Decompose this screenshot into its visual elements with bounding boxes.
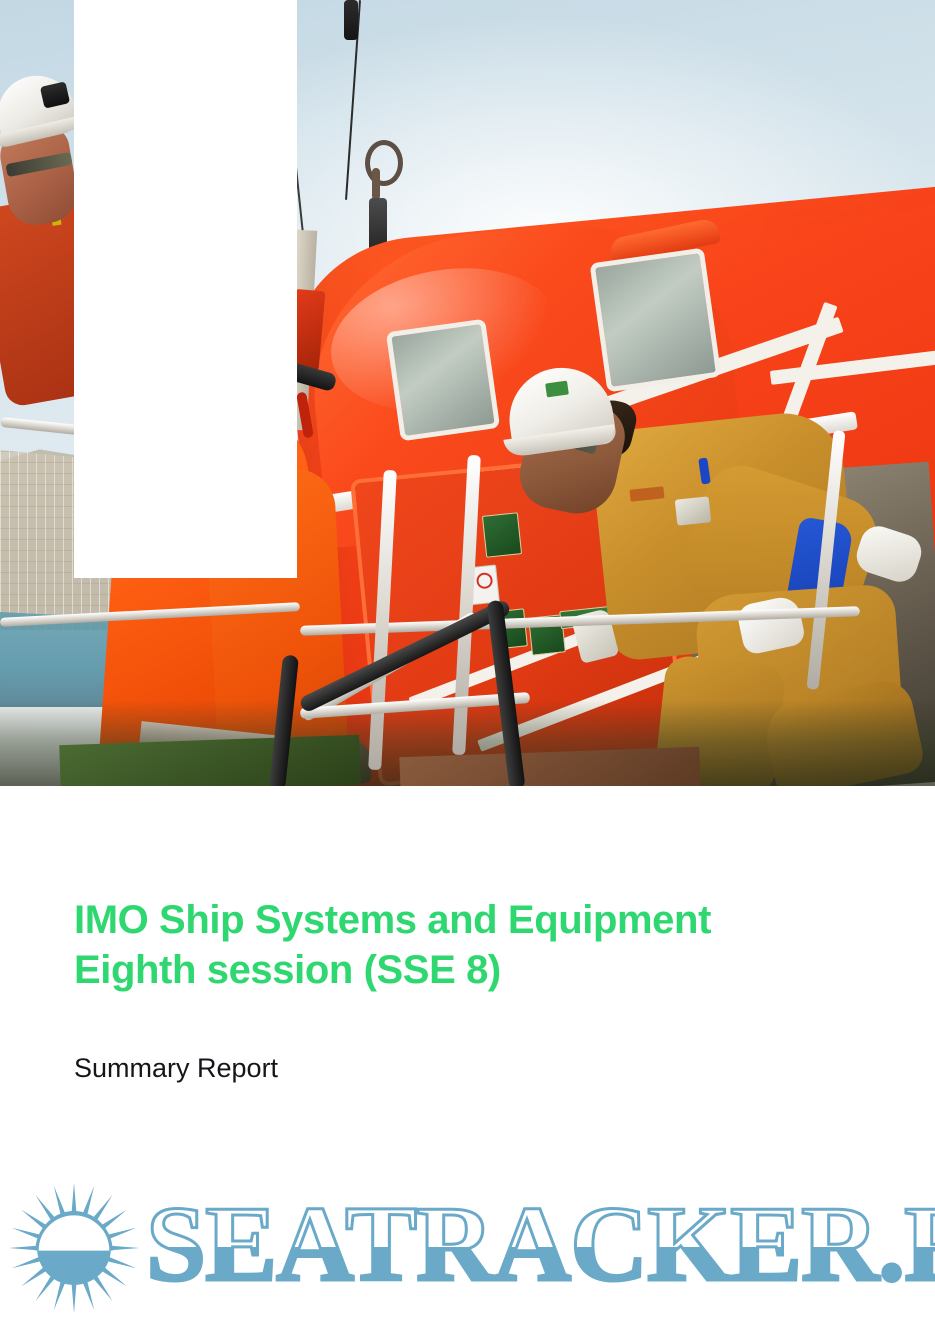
page-title: IMO Ship Systems and Equipment Eighth se… [74,895,834,995]
lifeboat-window-left [386,319,500,442]
watermark-banner: SEATRACKER.RU [0,1178,935,1322]
sun-starburst-icon [8,1182,140,1319]
lr-logo-panel [74,0,297,578]
worker-tan-patch [675,496,712,525]
davit-ring-icon [365,140,403,186]
safety-placard-icon [482,512,522,558]
no-entry-icon [476,572,494,590]
document-subtitle: Summary Report [74,995,834,1085]
davit-hook-icon [372,168,380,200]
cover-text-block: IMO Ship Systems and Equipment Eighth se… [74,895,834,1085]
lifeboat-window-right [590,248,722,393]
svg-text:SEATRACKER.RU: SEATRACKER.RU [146,1188,935,1304]
watermark-wordmark: SEATRACKER.RU [146,1188,935,1313]
davit-block-icon [344,0,358,40]
